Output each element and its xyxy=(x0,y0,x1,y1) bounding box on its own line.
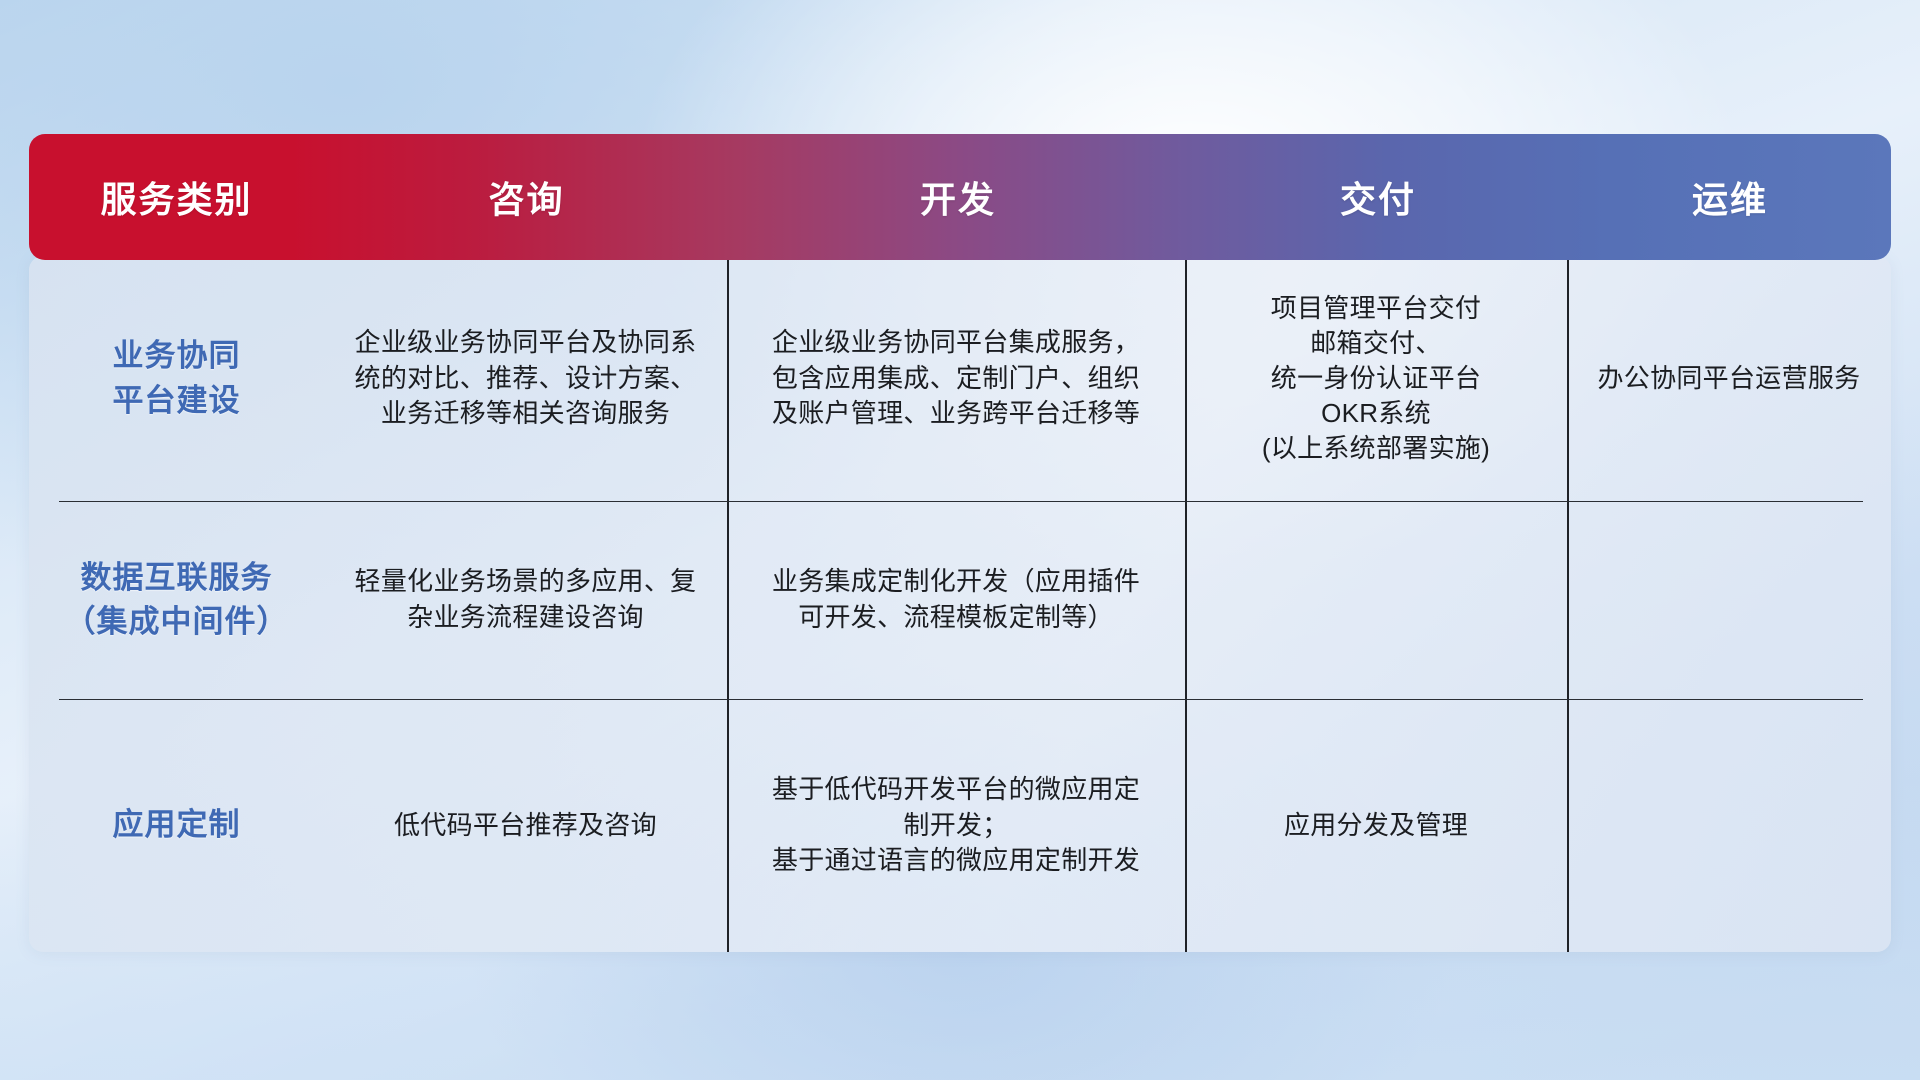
row-operations-cell: 办公协同平台运营服务 xyxy=(1567,256,1891,501)
row-category-label: 数据互联服务 （集成中间件） xyxy=(65,556,289,644)
row-category-cell: 数据互联服务 （集成中间件） xyxy=(29,501,324,699)
row-delivery-cell: 项目管理平台交付 邮箱交付、 统一身份认证平台 OKR系统 (以上系统部署实施) xyxy=(1185,256,1567,501)
header-cell-consulting: 咨询 xyxy=(324,171,729,223)
table-row: 数据互联服务 （集成中间件） 轻量化业务场景的多应用、复 杂业务流程建设咨询 业… xyxy=(29,501,1891,699)
row-consulting-text: 低代码平台推荐及咨询 xyxy=(394,808,657,844)
row-category-cell: 应用定制 xyxy=(29,699,324,952)
row-development-cell: 企业级业务协同平台集成服务， 包含应用集成、定制门户、组织 及账户管理、业务跨平… xyxy=(727,256,1185,501)
header-cell-category: 服务类别 xyxy=(29,171,324,223)
row-development-text: 基于低代码开发平台的微应用定 制开发； 基于通过语言的微应用定制开发 xyxy=(772,772,1140,880)
row-consulting-text: 企业级业务协同平台及协同系 统的对比、推荐、设计方案、 业务迁移等相关咨询服务 xyxy=(355,325,697,433)
row-category-label: 应用定制 xyxy=(113,803,241,847)
table-rows: 业务协同 平台建设 企业级业务协同平台及协同系 统的对比、推荐、设计方案、 业务… xyxy=(29,256,1891,952)
row-delivery-text: 应用分发及管理 xyxy=(1284,808,1468,844)
row-development-cell: 基于低代码开发平台的微应用定 制开发； 基于通过语言的微应用定制开发 xyxy=(727,699,1185,952)
table-header-row: 服务类别 咨询 开发 交付 运维 xyxy=(29,134,1891,260)
header-cell-delivery: 交付 xyxy=(1187,171,1569,223)
table-row: 应用定制 低代码平台推荐及咨询 基于低代码开发平台的微应用定 制开发； 基于通过… xyxy=(29,699,1891,952)
row-category-cell: 业务协同 平台建设 xyxy=(29,256,324,501)
row-consulting-cell: 轻量化业务场景的多应用、复 杂业务流程建设咨询 xyxy=(324,501,727,699)
row-operations-text: 办公协同平台运营服务 xyxy=(1597,361,1860,397)
row-development-text: 业务集成定制化开发（应用插件 可开发、流程模板定制等） xyxy=(772,564,1140,636)
row-consulting-cell: 企业级业务协同平台及协同系 统的对比、推荐、设计方案、 业务迁移等相关咨询服务 xyxy=(324,256,727,501)
table-header-bar: 服务类别 咨询 开发 交付 运维 xyxy=(29,134,1891,260)
table-row: 业务协同 平台建设 企业级业务协同平台及协同系 统的对比、推荐、设计方案、 业务… xyxy=(29,256,1891,501)
row-development-text: 企业级业务协同平台集成服务， 包含应用集成、定制门户、组织 及账户管理、业务跨平… xyxy=(772,325,1140,433)
row-delivery-text: 项目管理平台交付 邮箱交付、 统一身份认证平台 OKR系统 (以上系统部署实施) xyxy=(1262,291,1490,465)
row-consulting-cell: 低代码平台推荐及咨询 xyxy=(324,699,727,952)
row-development-cell: 业务集成定制化开发（应用插件 可开发、流程模板定制等） xyxy=(727,501,1185,699)
row-delivery-cell: 应用分发及管理 xyxy=(1185,699,1567,952)
row-category-label: 业务协同 平台建设 xyxy=(113,334,241,422)
service-matrix-table: 服务类别 咨询 开发 交付 运维 业务协同 平台建设 企业级业务协同平台及协同系… xyxy=(29,134,1891,952)
row-delivery-cell xyxy=(1185,501,1567,699)
header-cell-operations: 运维 xyxy=(1569,171,1891,223)
row-operations-cell xyxy=(1567,501,1891,699)
header-cell-development: 开发 xyxy=(729,171,1187,223)
row-operations-cell xyxy=(1567,699,1891,952)
row-consulting-text: 轻量化业务场景的多应用、复 杂业务流程建设咨询 xyxy=(355,564,697,636)
